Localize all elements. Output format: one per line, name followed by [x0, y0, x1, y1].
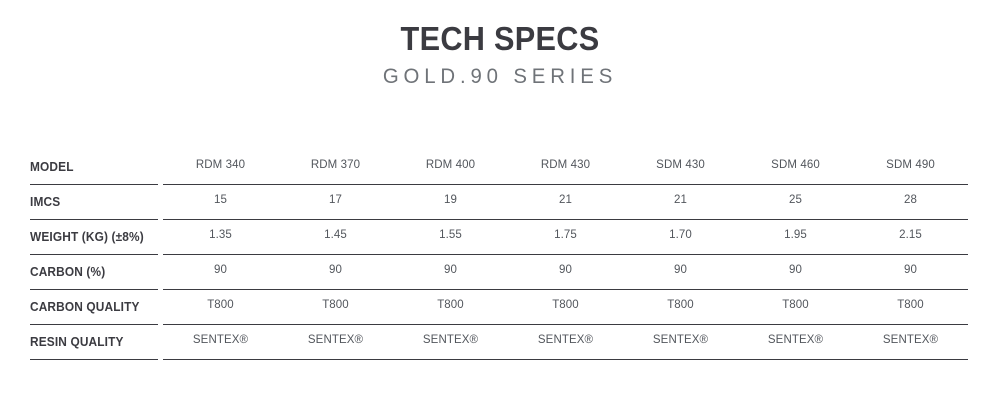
data-cell: 1.45 — [278, 220, 393, 250]
row-divider-label-segment — [30, 359, 158, 360]
data-cell: 1.70 — [623, 220, 738, 250]
data-cell: 90 — [623, 255, 738, 285]
data-cell: SENTEX® — [508, 325, 623, 355]
column-header-4: RDM 430 — [508, 150, 623, 180]
column-header-1: RDM 340 — [163, 150, 278, 180]
row-label-cell: IMCS — [30, 185, 158, 219]
data-cell: T800 — [738, 290, 853, 320]
row-label-cell: MODEL — [30, 150, 158, 184]
row-data-cells: 90909090909090 — [163, 255, 968, 285]
data-cell: 1.95 — [738, 220, 853, 250]
data-cell: 90 — [738, 255, 853, 285]
data-cell: 25 — [738, 185, 853, 215]
row-label: RESIN QUALITY — [30, 335, 124, 349]
row-label: CARBON (%) — [30, 265, 105, 279]
column-header-2: RDM 370 — [278, 150, 393, 180]
data-cell: 1.55 — [393, 220, 508, 250]
column-header-6: SDM 460 — [738, 150, 853, 180]
data-cell: 2.15 — [853, 220, 968, 250]
page-subtitle: GOLD.90 SERIES — [15, 66, 985, 87]
row-data-cells: T800T800T800T800T800T800T800 — [163, 290, 968, 320]
table-row: RESIN QUALITYSENTEX®SENTEX®SENTEX®SENTEX… — [30, 325, 968, 359]
row-label: CARBON QUALITY — [30, 300, 140, 314]
data-cell: T800 — [278, 290, 393, 320]
data-cell: SENTEX® — [623, 325, 738, 355]
data-cell: 19 — [393, 185, 508, 215]
table-row: IMCS15171921212528 — [30, 185, 968, 219]
row-label: MODEL — [30, 160, 74, 174]
column-header-3: RDM 400 — [393, 150, 508, 180]
row-label-cell: CARBON (%) — [30, 255, 158, 289]
data-cell: T800 — [508, 290, 623, 320]
data-cell: T800 — [853, 290, 968, 320]
data-cell: SENTEX® — [853, 325, 968, 355]
table-row: CARBON QUALITYT800T800T800T800T800T800T8… — [30, 290, 968, 324]
row-label: IMCS — [30, 195, 60, 209]
tech-specs-table: MODELRDM 340RDM 370RDM 400RDM 430SDM 430… — [30, 150, 968, 360]
row-divider-data-segment — [163, 359, 968, 360]
row-data-cells: 15171921212528 — [163, 185, 968, 215]
data-cell: 21 — [508, 185, 623, 215]
data-cell: 21 — [623, 185, 738, 215]
table-row: WEIGHT (KG) (±8%)1.351.451.551.751.701.9… — [30, 220, 968, 254]
data-cell: 90 — [853, 255, 968, 285]
page-header: TECH SPECS GOLD.90 SERIES — [0, 0, 1000, 87]
data-cell: 15 — [163, 185, 278, 215]
data-cell: SENTEX® — [393, 325, 508, 355]
row-label: WEIGHT (KG) (±8%) — [30, 230, 144, 244]
row-label-cell: WEIGHT (KG) (±8%) — [30, 220, 158, 254]
page-title: TECH SPECS — [35, 22, 965, 55]
data-cell: T800 — [163, 290, 278, 320]
row-data-cells: RDM 340RDM 370RDM 400RDM 430SDM 430SDM 4… — [163, 150, 968, 180]
data-cell: 1.35 — [163, 220, 278, 250]
data-cell: SENTEX® — [278, 325, 393, 355]
data-cell: 90 — [393, 255, 508, 285]
table-row: CARBON (%)90909090909090 — [30, 255, 968, 289]
data-cell: T800 — [393, 290, 508, 320]
data-cell: 90 — [508, 255, 623, 285]
row-label-cell: RESIN QUALITY — [30, 325, 158, 359]
column-header-7: SDM 490 — [853, 150, 968, 180]
data-cell: 90 — [163, 255, 278, 285]
data-cell: SENTEX® — [738, 325, 853, 355]
data-cell: SENTEX® — [163, 325, 278, 355]
column-header-5: SDM 430 — [623, 150, 738, 180]
row-data-cells: 1.351.451.551.751.701.952.15 — [163, 220, 968, 250]
data-cell: 90 — [278, 255, 393, 285]
data-cell: 1.75 — [508, 220, 623, 250]
table-header-row: MODELRDM 340RDM 370RDM 400RDM 430SDM 430… — [30, 150, 968, 184]
data-cell: 17 — [278, 185, 393, 215]
row-data-cells: SENTEX®SENTEX®SENTEX®SENTEX®SENTEX®SENTE… — [163, 325, 968, 355]
row-divider — [30, 359, 968, 360]
data-cell: T800 — [623, 290, 738, 320]
row-label-cell: CARBON QUALITY — [30, 290, 158, 324]
data-cell: 28 — [853, 185, 968, 215]
